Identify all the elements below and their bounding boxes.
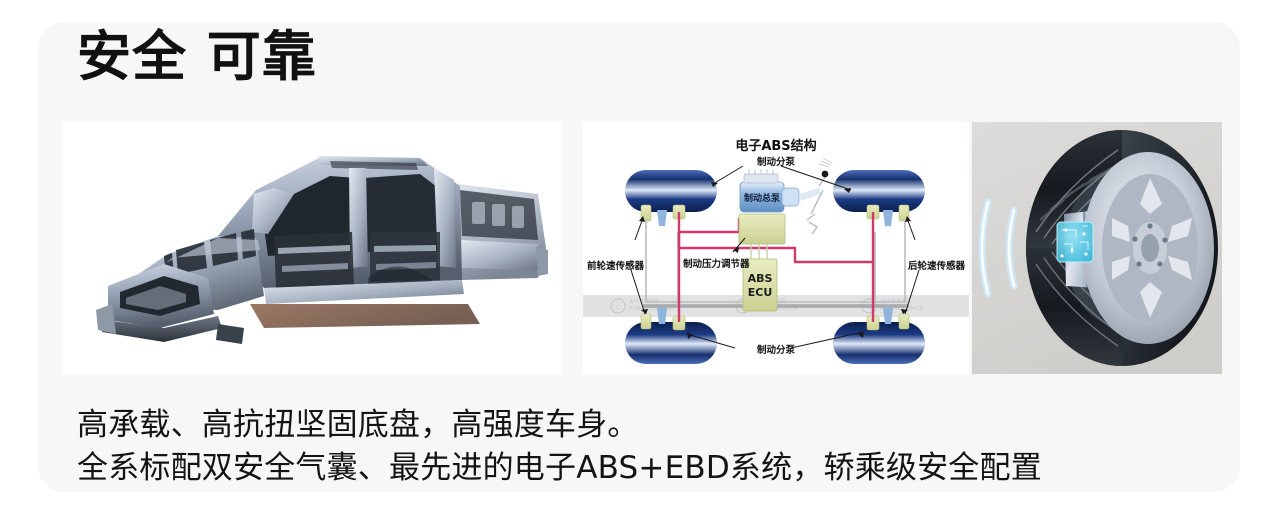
abs-label-ecu-line1: ABS	[748, 272, 773, 285]
abs-label-pressure-regulator: 制动压力调节器	[683, 258, 750, 270]
abs-label-wheel-cylinder-bottom: 制动分泵	[757, 344, 796, 356]
truck-body-frame-photo	[62, 122, 562, 374]
tire-tpms-photo	[972, 122, 1222, 374]
abs-label-ecu-line2: ECU	[748, 286, 773, 299]
body-line-2: 全系标配双安全气囊、最先进的电子ABS+EBD系统，轿乘级安全配置	[77, 447, 1227, 490]
abs-diagram-title: 电子ABS结构	[735, 138, 816, 154]
abs-label-master-cylinder: 制动总泵	[744, 192, 781, 204]
truck-body-frame-illustration	[62, 122, 562, 374]
svg-text:口: 口	[616, 305, 621, 311]
body-line-1: 高承载、高抗扭坚固底盘，高强度车身。	[77, 404, 1227, 447]
abs-diagram-illustration: 口 太平洋汽车网 PCAUTO.COM.CN 口 太平洋汽车网 PCAUTO.C…	[583, 122, 969, 374]
abs-label-rear-sensor: 后轮速传感器	[908, 260, 966, 272]
abs-label-wheel-cylinder-top: 制动分泵	[757, 156, 796, 168]
abs-system-diagram: 口 太平洋汽车网 PCAUTO.COM.CN 口 太平洋汽车网 PCAUTO.C…	[583, 122, 969, 374]
abs-label-front-sensor: 前轮速传感器	[587, 260, 645, 272]
page-title: 安全 可靠	[77, 28, 317, 86]
tire-tpms-illustration	[972, 122, 1222, 374]
body-description: 高承载、高抗扭坚固底盘，高强度车身。 全系标配双安全气囊、最先进的电子ABS+E…	[77, 404, 1227, 490]
image-gallery-row: 口 太平洋汽车网 PCAUTO.COM.CN 口 太平洋汽车网 PCAUTO.C…	[62, 122, 1222, 374]
